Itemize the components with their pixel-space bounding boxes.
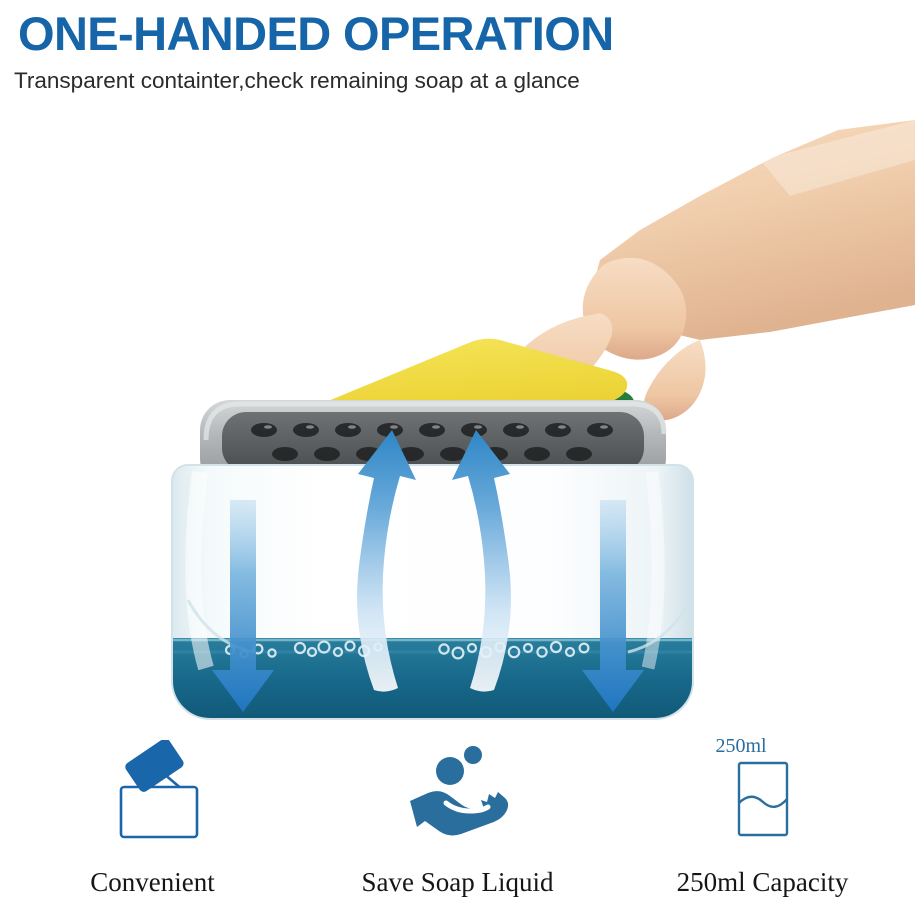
feature-item-save-soap: Save Soap Liquid [305,735,610,915]
page-title: ONE-HANDED OPERATION [18,6,614,61]
hand-with-soap-bubbles-icon [402,735,514,845]
feature-row: Convenient Save Soap Liquid 250ml [0,735,915,915]
feature-item-convenient: Convenient [0,735,305,915]
product-feature-poster: ONE-HANDED OPERATION Transparent contain… [0,0,915,915]
container-capacity-icon: 250ml [708,735,818,845]
hero-product-image [0,100,915,730]
feature-label-save-soap: Save Soap Liquid [362,867,554,898]
feature-item-capacity: 250ml 250ml Capacity [610,735,915,915]
feature-label-capacity: 250ml Capacity [677,867,849,898]
feature-label-convenient: Convenient [90,867,214,898]
press-pump-box-icon [97,735,209,845]
page-subtitle: Transparent containter,check remaining s… [14,68,580,94]
